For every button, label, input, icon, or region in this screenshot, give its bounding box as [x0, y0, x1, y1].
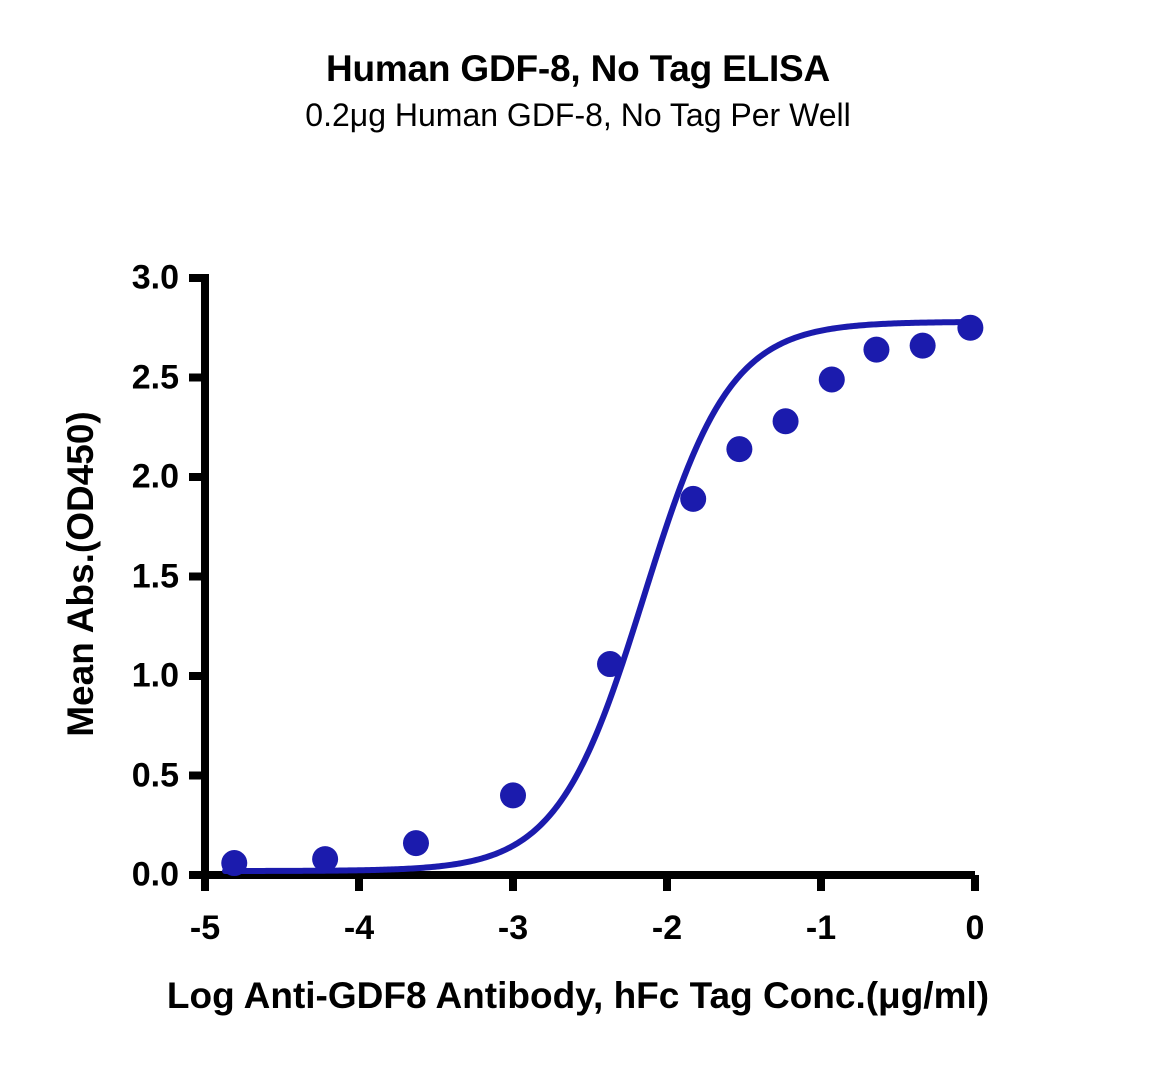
y-tick-label: 0.5: [60, 756, 179, 795]
data-point: (-0.64, 2.64): [863, 337, 889, 363]
x-tick-label: -3: [498, 909, 528, 948]
data-point: (-1.53, 2.14): [726, 436, 752, 462]
data-point: (-0.03, 2.75): [957, 315, 983, 341]
data-point: (-0.34, 2.66): [910, 333, 936, 359]
data-point: (-3, 0.4): [500, 782, 526, 808]
y-tick-label: 3.0: [60, 259, 179, 298]
data-point: (-3.63, 0.16): [403, 830, 429, 856]
x-tick-label: -4: [344, 909, 374, 948]
data-point: (-1.83, 1.89): [680, 486, 706, 512]
data-point: (-0.93, 2.49): [819, 366, 845, 392]
data-point: (-4.81, 0.06): [221, 850, 247, 876]
data-point: (-4.22, 0.08): [312, 846, 338, 872]
chart-page: Human GDF-8, No Tag ELISA 0.2μg Human GD…: [0, 0, 1156, 1077]
fit-curve-path: [225, 322, 975, 871]
plot-area: (-4.81, 0.06)(-4.22, 0.08)(-3.63, 0.16)(…: [0, 0, 1156, 1077]
x-tick-label: 0: [966, 909, 985, 948]
data-point: (-1.23, 2.28): [773, 408, 799, 434]
x-tick-label: -1: [806, 909, 836, 948]
x-axis-title: Log Anti-GDF8 Antibody, hFc Tag Conc.(μg…: [0, 975, 1156, 1017]
axes: [189, 274, 975, 891]
y-tick-label: 0.0: [60, 856, 179, 895]
data-point: (-2.37, 1.06): [597, 651, 623, 677]
fit-curve: [225, 322, 975, 871]
y-tick-label: 2.5: [60, 358, 179, 397]
x-tick-label: -5: [190, 909, 220, 948]
y-tick-label: 1.0: [60, 657, 179, 696]
y-tick-label: 2.0: [60, 458, 179, 497]
data-points: (-4.81, 0.06)(-4.22, 0.08)(-3.63, 0.16)(…: [221, 315, 983, 876]
x-tick-label: -2: [652, 909, 682, 948]
y-tick-label: 1.5: [60, 557, 179, 596]
